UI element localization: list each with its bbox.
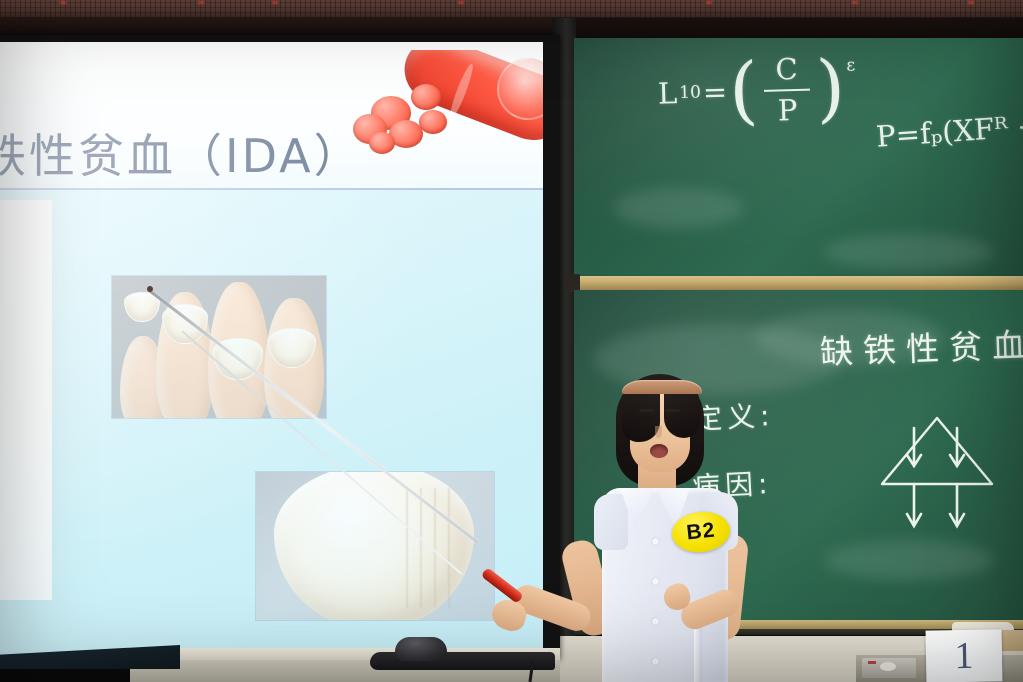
pointer-tip bbox=[147, 286, 153, 292]
nail-ridge bbox=[406, 488, 408, 608]
ceiling-highlight bbox=[272, 1, 278, 4]
slide-left-panel bbox=[0, 200, 52, 600]
computer-mouse bbox=[395, 637, 447, 661]
instructor: B2 bbox=[560, 372, 790, 682]
formula-numerator: C bbox=[775, 55, 798, 87]
mouth bbox=[650, 444, 668, 458]
eyebrow bbox=[639, 409, 654, 412]
chalk-smudge bbox=[614, 188, 744, 228]
blackboard-middle-rail bbox=[574, 276, 1023, 290]
formula-fraction: C P bbox=[759, 55, 815, 126]
red-capsule-icon bbox=[349, 50, 543, 185]
eye bbox=[666, 416, 679, 421]
nail-plate bbox=[274, 472, 474, 620]
triangle-with-down-arrows-diagram bbox=[874, 412, 1000, 536]
formula-lhs-subscript: 10 bbox=[679, 82, 701, 103]
formula-open-paren: ( bbox=[729, 64, 759, 118]
ceiling-highlight bbox=[852, 1, 858, 4]
nail-ridge bbox=[420, 488, 422, 608]
projection-screen-frame: 铁性贫血（IDA） bbox=[0, 35, 560, 660]
coat-placket bbox=[694, 628, 702, 682]
formula-exponent: ε bbox=[846, 55, 855, 75]
ceiling-grid-texture bbox=[0, 0, 1023, 18]
blackboard-upper-panel: L10 = ( C P ) ε P=fₚ(XFᴿ + bbox=[574, 38, 1023, 276]
formula-fraction-bar bbox=[764, 89, 810, 92]
device-dial bbox=[880, 662, 896, 671]
formula-denominator: P bbox=[777, 94, 797, 126]
capsule-granule bbox=[419, 110, 447, 134]
classroom-photo: L10 = ( C P ) ε P=fₚ(XFᴿ + 缺铁性贫血 定义: 病 bbox=[0, 0, 1023, 682]
coat-button bbox=[652, 578, 659, 585]
capsule-granule bbox=[369, 132, 395, 154]
formula-lhs: L bbox=[658, 76, 678, 110]
ceiling-highlight bbox=[968, 1, 974, 4]
nose bbox=[655, 426, 662, 438]
blackboard-top-frame bbox=[552, 18, 1023, 38]
table-number-card: 1 bbox=[926, 629, 1003, 682]
coat-button bbox=[652, 618, 659, 625]
ceiling-band bbox=[0, 0, 1023, 18]
chalk-smudge bbox=[824, 234, 994, 270]
device-indicator bbox=[868, 661, 876, 664]
coat-button bbox=[652, 658, 659, 665]
fingernail-photo bbox=[112, 276, 326, 418]
coat-button bbox=[652, 538, 659, 545]
chalk-formula-one: L10 = ( C P ) ε bbox=[657, 53, 857, 128]
chalk-smudge bbox=[824, 540, 994, 580]
ceiling-highlight bbox=[706, 1, 712, 4]
chalk-formula-two: P=fₚ(XFᴿ + bbox=[875, 108, 1023, 153]
nail-closeup-photo bbox=[256, 472, 494, 620]
blackboard-heading: 缺铁性贫血 bbox=[819, 318, 1023, 373]
ceiling-highlight bbox=[60, 1, 66, 4]
headband bbox=[622, 380, 702, 394]
shoulder-left bbox=[594, 494, 628, 550]
formula-equals: = bbox=[702, 75, 727, 110]
nail-ridge bbox=[448, 488, 450, 608]
ceiling-highlight bbox=[458, 1, 464, 4]
eyebrow bbox=[665, 409, 680, 412]
formula-close-paren: ) bbox=[815, 62, 845, 116]
ceiling-highlight bbox=[198, 1, 204, 4]
projection-screen-surface: 铁性贫血（IDA） bbox=[0, 42, 543, 660]
slide-title: 铁性贫血（IDA） bbox=[0, 120, 363, 186]
capsule-granule bbox=[411, 84, 441, 110]
eye bbox=[640, 416, 653, 421]
